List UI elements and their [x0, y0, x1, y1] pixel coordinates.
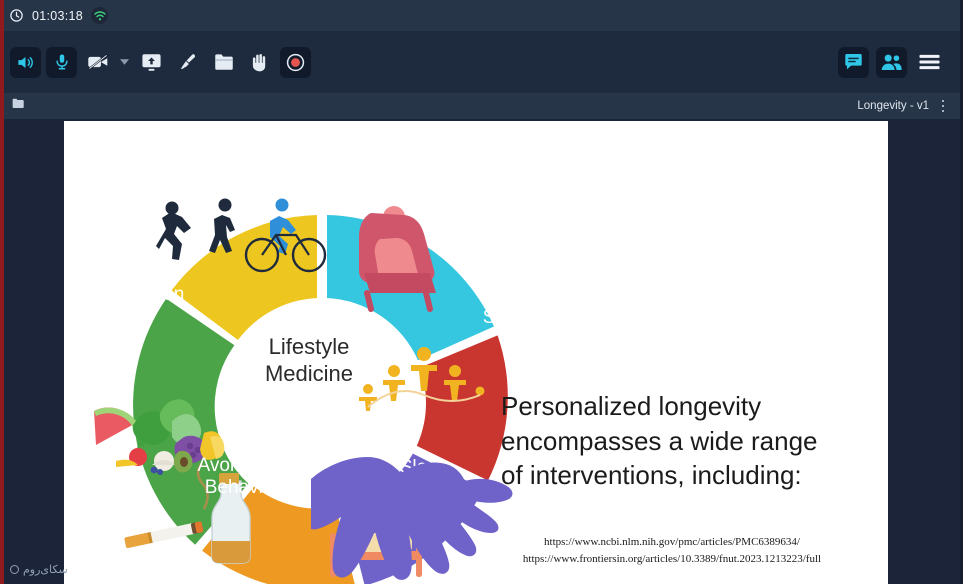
- wifi-icon: [91, 7, 108, 24]
- participants-button[interactable]: [876, 47, 907, 78]
- chat-button[interactable]: [838, 47, 869, 78]
- vertical-dots-icon[interactable]: [936, 97, 950, 115]
- folder-icon: [12, 97, 25, 115]
- skyroom-watermark: سکای‌روم: [10, 563, 68, 576]
- svg-text:z: z: [351, 513, 359, 528]
- camera-off-button[interactable]: [82, 47, 113, 78]
- toolbar-left-group: [0, 47, 311, 78]
- record-button[interactable]: [280, 47, 311, 78]
- slide-references: https://www.ncbi.nlm.nih.gov/pmc/article…: [462, 534, 882, 568]
- svg-text:z: z: [372, 492, 383, 513]
- left-edge-strip: [0, 0, 4, 584]
- copyright-icon: [10, 565, 19, 574]
- document-title: Longevity - v1: [857, 100, 929, 112]
- chevron-down-icon[interactable]: [118, 49, 131, 75]
- status-bar: 01:03:18: [0, 0, 963, 31]
- menu-button[interactable]: [914, 47, 945, 78]
- wheel-hub: [218, 299, 426, 507]
- reference-link-1: https://www.ncbi.nlm.nih.gov/pmc/article…: [462, 534, 882, 551]
- presentation-stage: z z z Exercise Stress Management Social …: [4, 119, 960, 584]
- document-header: Longevity - v1: [4, 93, 960, 119]
- session-timer: 01:03:18: [32, 9, 83, 23]
- toolbar-right-group: [838, 47, 963, 78]
- slide-body-text: Personalized longevity encompasses a wid…: [501, 389, 871, 493]
- slide-canvas[interactable]: z z z Exercise Stress Management Social …: [64, 121, 888, 584]
- screen-share-button[interactable]: [136, 47, 167, 78]
- watermark-text: سکای‌روم: [23, 563, 68, 576]
- meeting-toolbar: [0, 31, 963, 93]
- lifestyle-medicine-wheel: z z z Exercise Stress Management Social …: [64, 121, 574, 584]
- speaker-button[interactable]: [10, 47, 41, 78]
- microphone-button[interactable]: [46, 47, 77, 78]
- meeting-window: 01:03:18: [0, 0, 963, 584]
- reference-link-2: https://www.frontiersin.org/articles/10.…: [462, 551, 882, 568]
- clock-icon: [9, 8, 24, 23]
- files-button[interactable]: [208, 47, 239, 78]
- brush-button[interactable]: [172, 47, 203, 78]
- raise-hand-button[interactable]: [244, 47, 275, 78]
- svg-text:z: z: [360, 504, 369, 521]
